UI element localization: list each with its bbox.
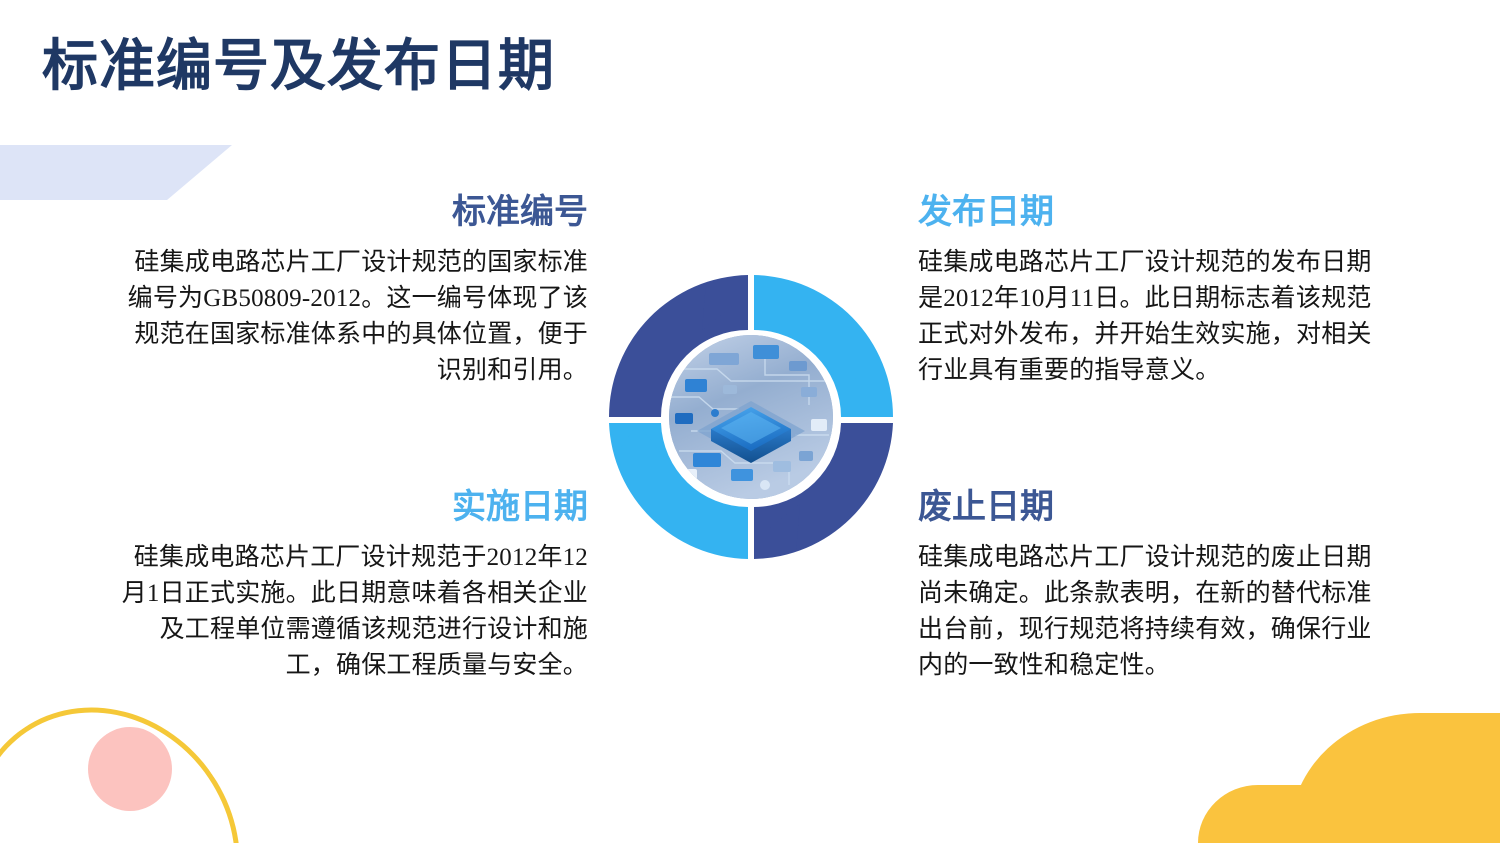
body-standard-number: 硅集成电路芯片工厂设计规范的国家标准编号为GB50809-2012。这一编号体现… [118,245,588,390]
text-block-abolition-date: 废止日期 硅集成电路芯片工厂设计规范的废止日期尚未确定。此条款表明，在新的替代标… [918,487,1388,685]
yellow-blob-decoration [1290,713,1500,843]
pink-circle-decoration [88,727,172,811]
text-block-implementation-date: 实施日期 硅集成电路芯片工厂设计规范于2012年12月1日正式实施。此日期意味着… [118,487,588,685]
heading-standard-number: 标准编号 [118,192,588,235]
heading-implementation-date: 实施日期 [118,487,588,530]
text-block-standard-number: 标准编号 硅集成电路芯片工厂设计规范的国家标准编号为GB50809-2012。这… [118,192,588,390]
page-title: 标准编号及发布日期 [42,36,555,99]
cycle-diagram [606,272,896,562]
heading-release-date: 发布日期 [918,192,1388,235]
heading-abolition-date: 废止日期 [918,487,1388,530]
circuit-board-chip-image [669,335,833,499]
body-implementation-date: 硅集成电路芯片工厂设计规范于2012年12月1日正式实施。此日期意味着各相关企业… [118,540,588,685]
circuit-board-illustration [669,335,833,499]
text-block-release-date: 发布日期 硅集成电路芯片工厂设计规范的发布日期是2012年10月11日。此日期标… [918,192,1388,390]
body-abolition-date: 硅集成电路芯片工厂设计规范的废止日期尚未确定。此条款表明，在新的替代标准出台前，… [918,540,1388,685]
body-release-date: 硅集成电路芯片工厂设计规范的发布日期是2012年10月11日。此日期标志着该规范… [918,245,1388,390]
slide-canvas: 标准编号及发布日期 标准编号 硅集成电路芯片工厂设计规范的国家标准编号为GB50… [0,0,1500,843]
